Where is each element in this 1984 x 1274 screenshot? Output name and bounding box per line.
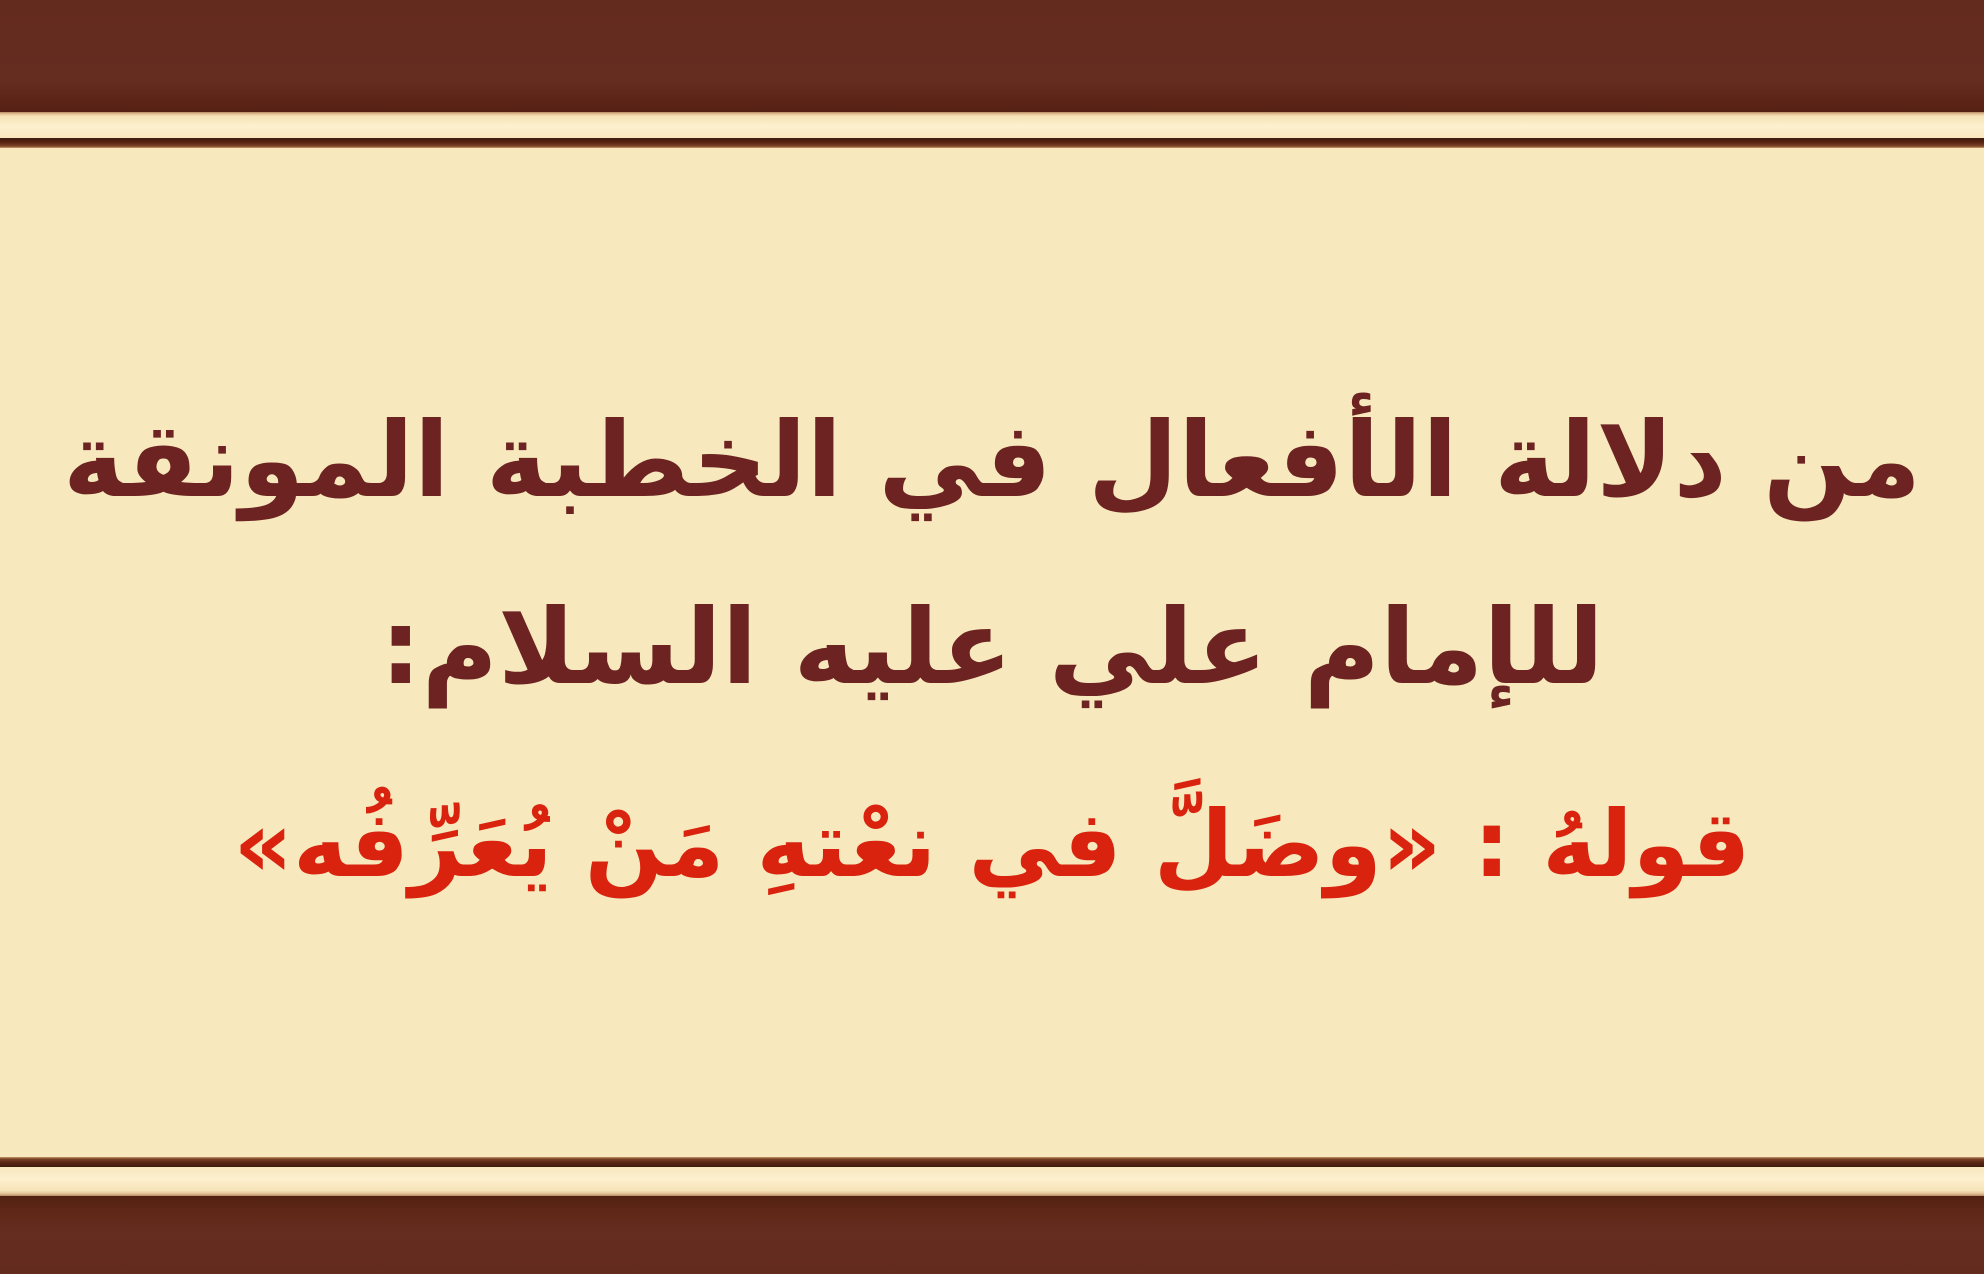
heading-line-1: من دلالة الأفعال في الخطبة المونقة [42,387,1942,535]
content-panel: من دلالة الأفعال في الخطبة المونقة للإما… [0,148,1984,1157]
top-dark-rule [0,138,1984,148]
quote-line: قولهُ : «وضَلَّ في نعْتهِ مَنْ يُعَرِّفُ… [42,780,1942,911]
bottom-border-band [0,1196,1984,1274]
poster-card: من دلالة الأفعال في الخطبة المونقة للإما… [0,0,1984,1274]
text-block: من دلالة الأفعال في الخطبة المونقة للإما… [42,387,1942,911]
top-border-band [0,0,1984,112]
heading-line-2: للإمام علي عليه السلام: [42,574,1942,722]
bottom-dark-rule [0,1157,1984,1167]
bottom-cream-stripe [0,1167,1984,1191]
top-cream-stripe [0,116,1984,138]
